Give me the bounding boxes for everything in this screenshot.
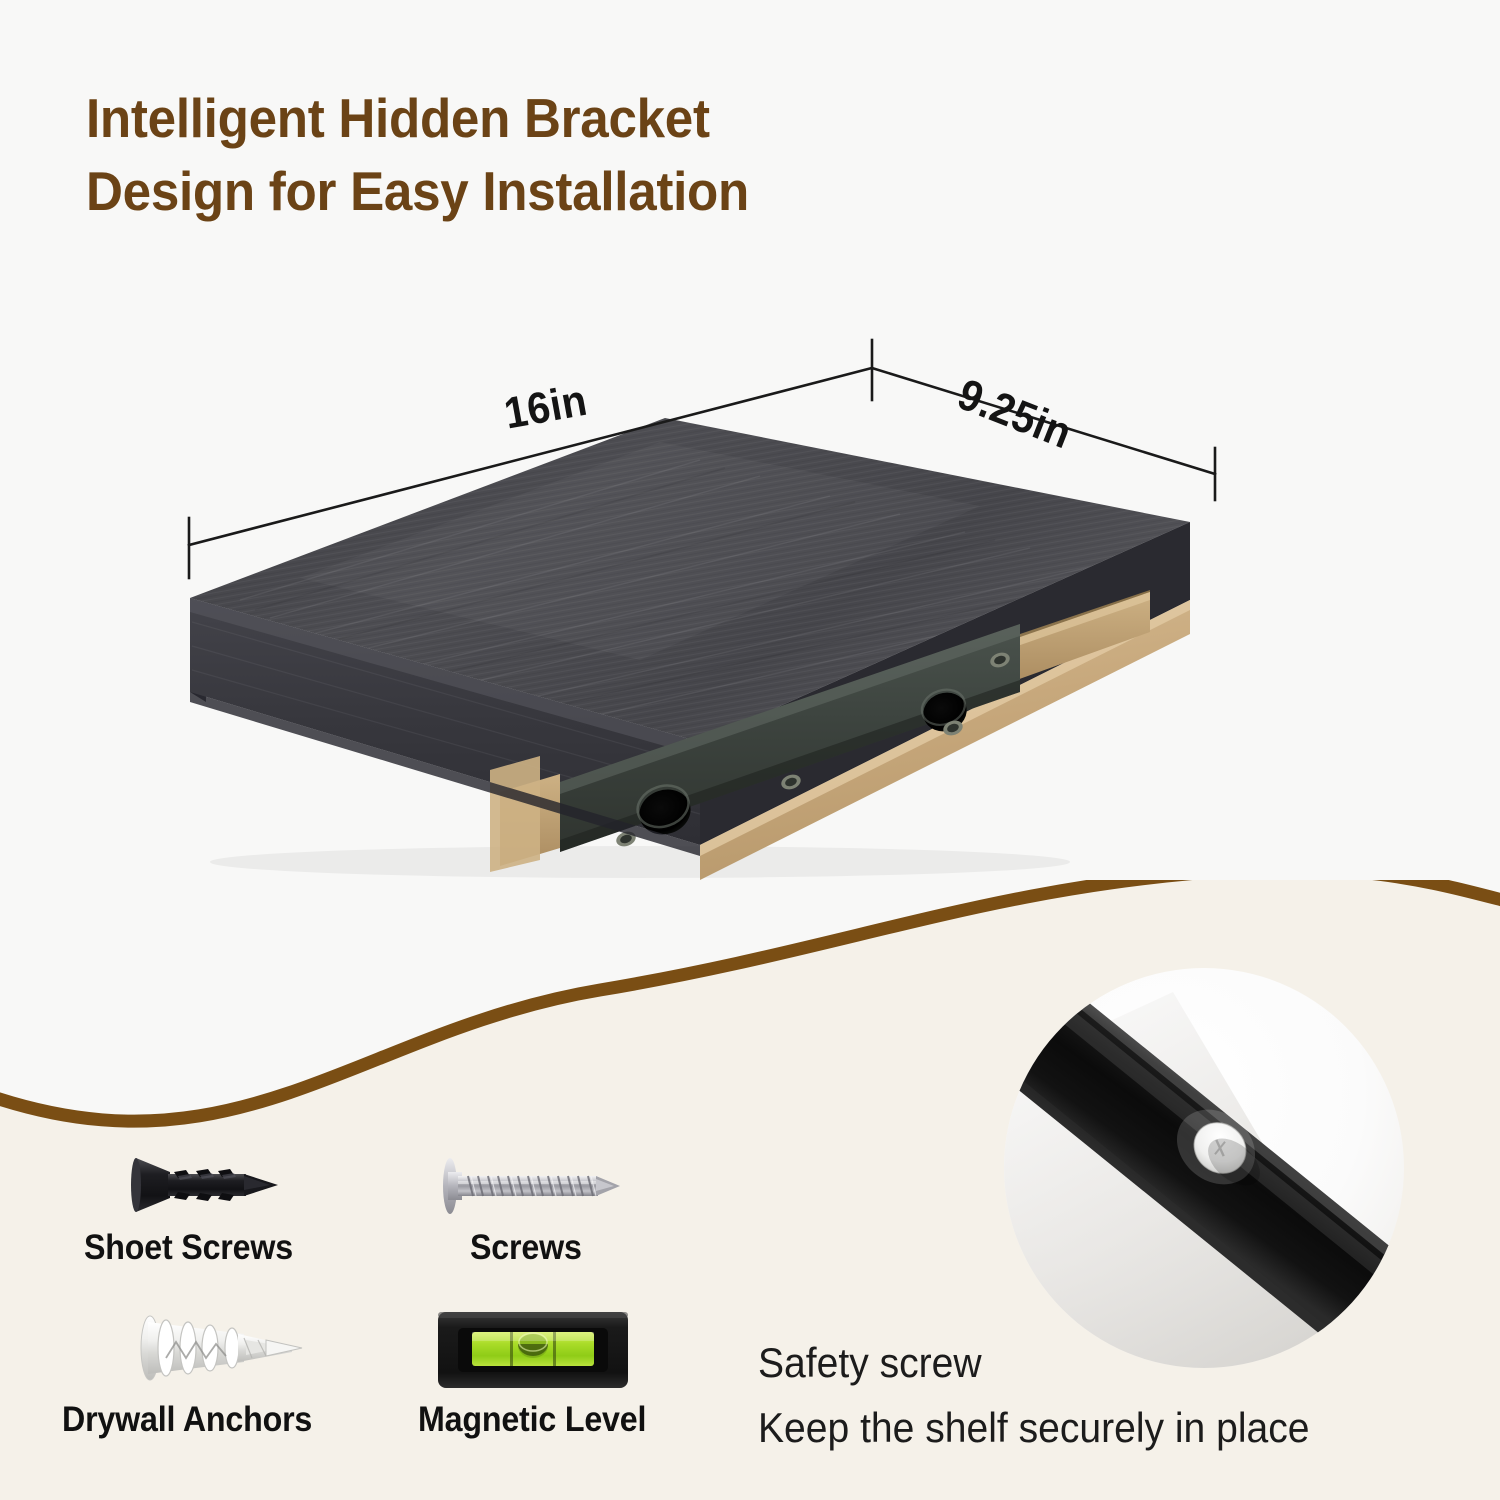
- magnetic-level-icon: [436, 1304, 630, 1396]
- safety-screw-description: Safety screw Keep the shelf securely in …: [758, 1330, 1310, 1460]
- shoet-screws-label: Shoet Screws: [84, 1228, 293, 1268]
- safety-screw-closeup-photo: [998, 962, 1410, 1374]
- screws-icon: [428, 1148, 628, 1224]
- magnetic-level-label: Magnetic Level: [418, 1400, 646, 1440]
- page-title: Intelligent Hidden Bracket Design for Ea…: [86, 82, 1016, 228]
- product-photo-shelf: [0, 300, 1300, 920]
- shoet-screws-icon: [118, 1146, 298, 1224]
- drywall-anchors-label: Drywall Anchors: [62, 1400, 312, 1440]
- screws-label: Screws: [470, 1228, 582, 1268]
- drywall-anchors-icon: [126, 1300, 304, 1396]
- infographic-canvas: Intelligent Hidden Bracket Design for Ea…: [0, 0, 1500, 1500]
